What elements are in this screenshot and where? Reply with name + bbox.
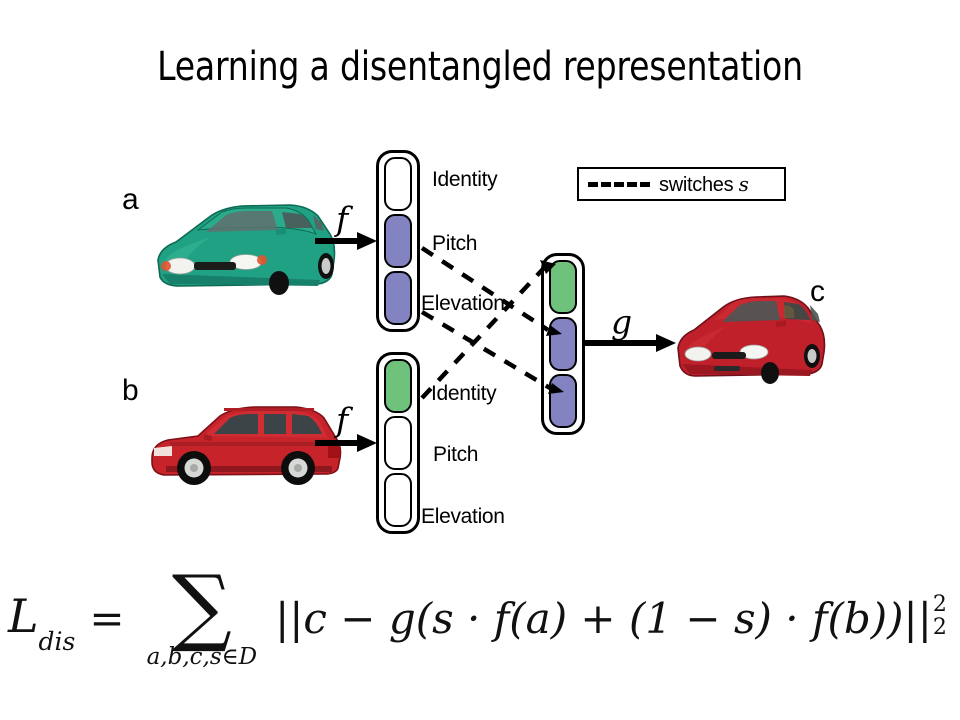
vector-a-label-pitch: Pitch [432, 232, 477, 256]
vector-a-cell-pitch[interactable] [384, 214, 412, 268]
mixed-vector-cell-identity[interactable] [549, 260, 577, 314]
mixed-feature-vector[interactable] [541, 253, 585, 435]
mixed-vector-cell-elevation[interactable] [549, 374, 577, 428]
vector-b-cell-elevation[interactable] [384, 473, 412, 527]
arrow-b-to-vector [315, 432, 377, 454]
feature-vector-b[interactable] [376, 352, 420, 534]
arrow-a-to-vector [315, 230, 377, 252]
vector-a-cell-elevation[interactable] [384, 271, 412, 325]
car-label-c: c [810, 275, 825, 309]
slide-canvas: Learning a disentangled representation [0, 0, 960, 720]
car-image-a [150, 182, 340, 307]
equation-summation: ∑ a,b,c,s∈D [147, 574, 258, 674]
vector-b-label-pitch: Pitch [433, 443, 478, 467]
vector-b-cell-identity[interactable] [384, 359, 412, 413]
equation-norm-indices: 2 2 [933, 593, 947, 639]
vector-b-label-elevation: Elevation [421, 505, 505, 529]
car-label-b: b [122, 374, 139, 408]
car-label-a: a [122, 183, 139, 217]
equation-equals: = [89, 594, 124, 643]
vector-b-label-identity: Identity [431, 382, 496, 406]
vector-a-cell-identity[interactable] [384, 157, 412, 211]
equation-body: ||c − g(s · f(a) + (1 − s) · f(b))|| [275, 594, 932, 643]
vector-b-cell-pitch[interactable] [384, 416, 412, 470]
equation-lhs: Ldis [8, 589, 75, 647]
feature-vector-a[interactable] [376, 150, 420, 332]
loss-equation: Ldis = ∑ a,b,c,s∈D ||c − g(s · f(a) + (1… [8, 548, 952, 688]
legend-label: switches s [659, 172, 749, 197]
mixed-vector-cell-pitch[interactable] [549, 317, 577, 371]
legend-switches: switches s [577, 167, 786, 201]
legend-dash-icon [588, 182, 650, 187]
page-title: Learning a disentangled representation [38, 44, 921, 90]
vector-a-label-elevation: Elevation [421, 292, 505, 316]
car-image-c [672, 282, 832, 392]
vector-a-label-identity: Identity [432, 168, 497, 192]
arrow-mixed-to-output [584, 332, 676, 354]
